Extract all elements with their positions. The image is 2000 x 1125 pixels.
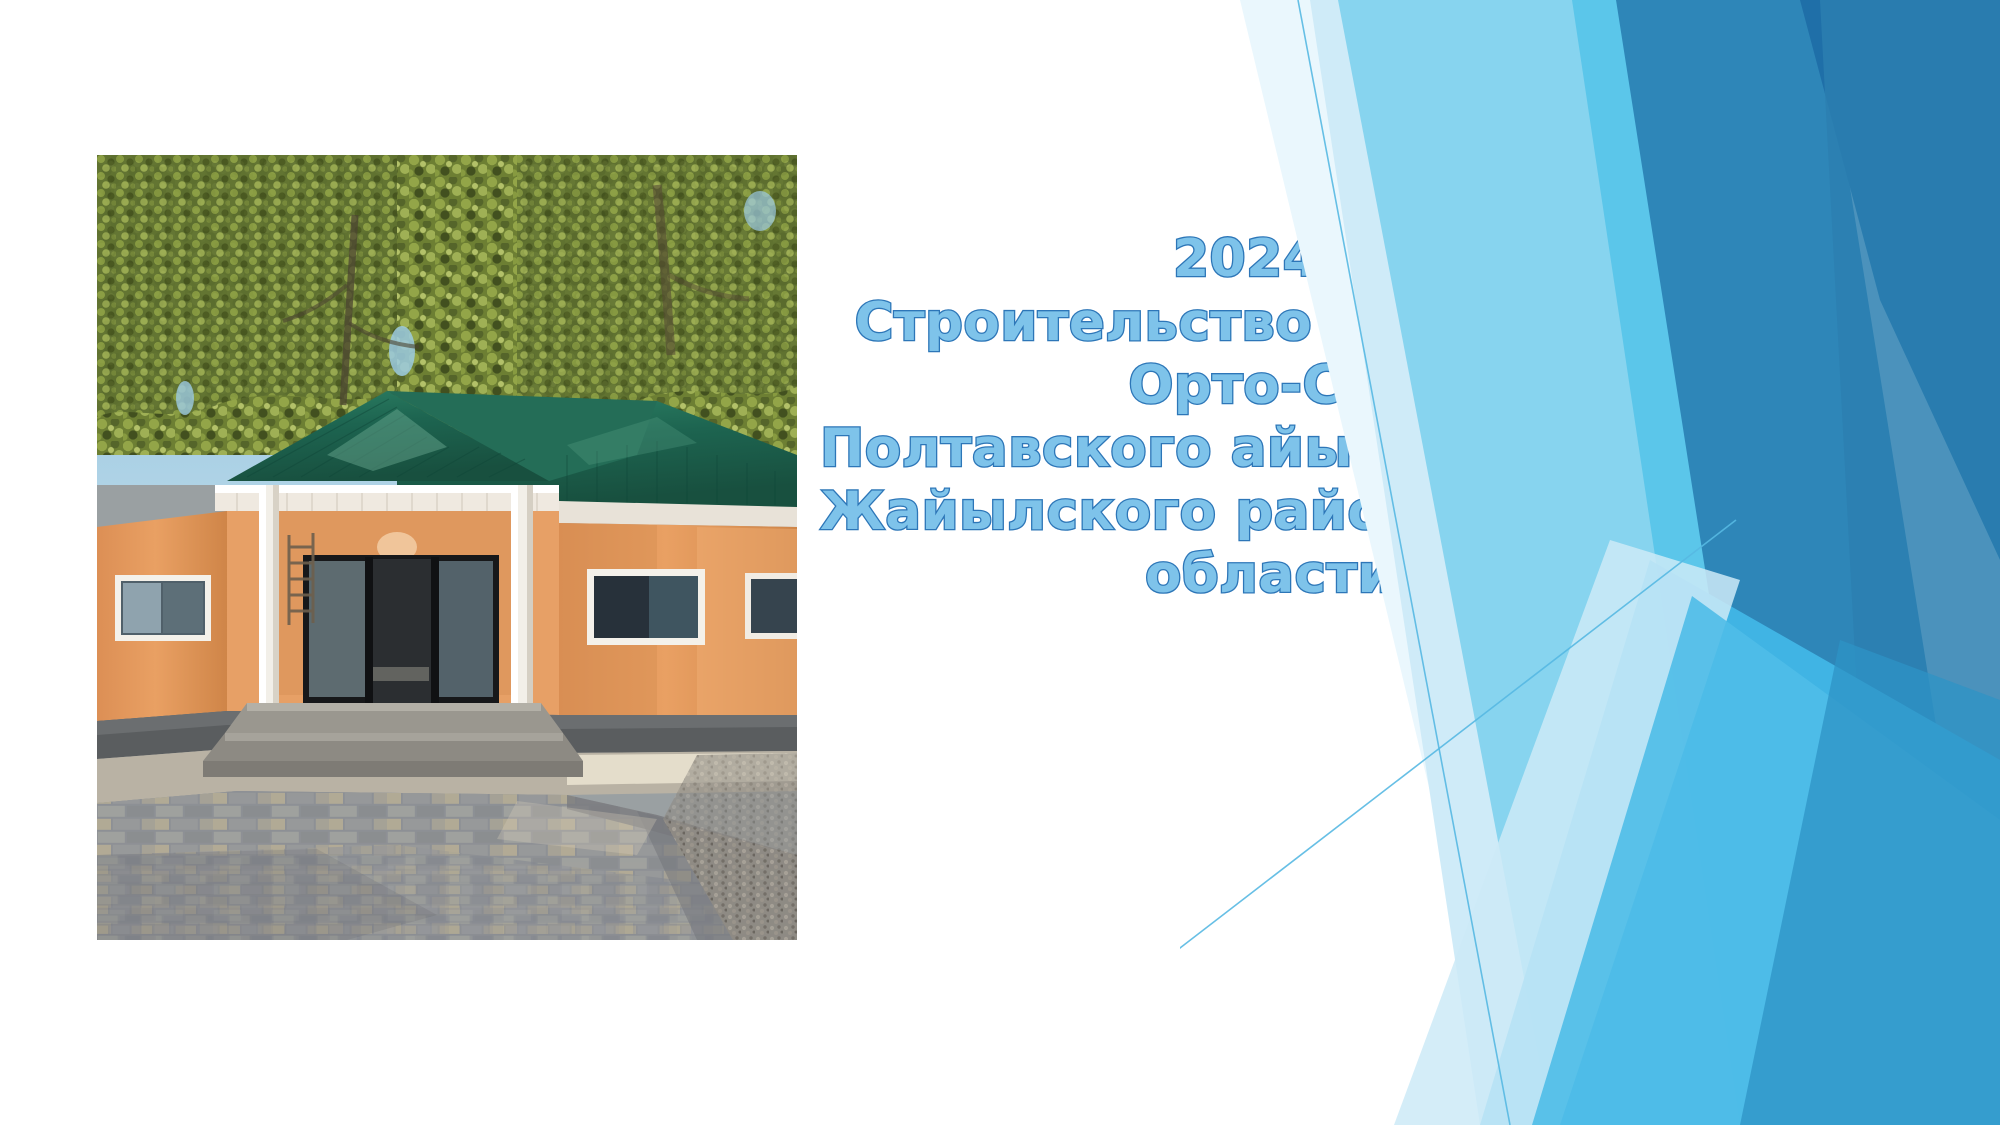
title-line-aimak: Полтавского айылного аймака bbox=[820, 417, 1720, 480]
presentation-slide: 2024г. Строительство ФАП в селе Орто-Суу… bbox=[0, 0, 2000, 1125]
deco-shape-lower-pale bbox=[1394, 540, 1740, 1125]
clinic-photo bbox=[97, 155, 797, 940]
deco-shape-lower-mid bbox=[1480, 560, 2000, 1125]
title-line-rayon: Жайылского района, Чуйской bbox=[820, 480, 1720, 543]
title-line-oblast: области bbox=[820, 543, 1720, 606]
title-line-project: Строительство ФАП в селе bbox=[820, 291, 1720, 354]
deco-shape-lower-dark bbox=[1740, 640, 2000, 1125]
deco-shape-steel bbox=[1820, 0, 2000, 1125]
deco-shape-lower-sky bbox=[1532, 596, 2000, 1125]
slide-title: 2024г. Строительство ФАП в селе Орто-Суу… bbox=[820, 228, 1720, 606]
title-line-year: 2024г. bbox=[820, 228, 1720, 291]
deco-hairline-lower bbox=[1180, 520, 1736, 1125]
photo-image bbox=[97, 155, 797, 940]
title-line-village: Орто-Суу bbox=[820, 354, 1720, 417]
deco-shape-darkest bbox=[1800, 0, 2000, 560]
